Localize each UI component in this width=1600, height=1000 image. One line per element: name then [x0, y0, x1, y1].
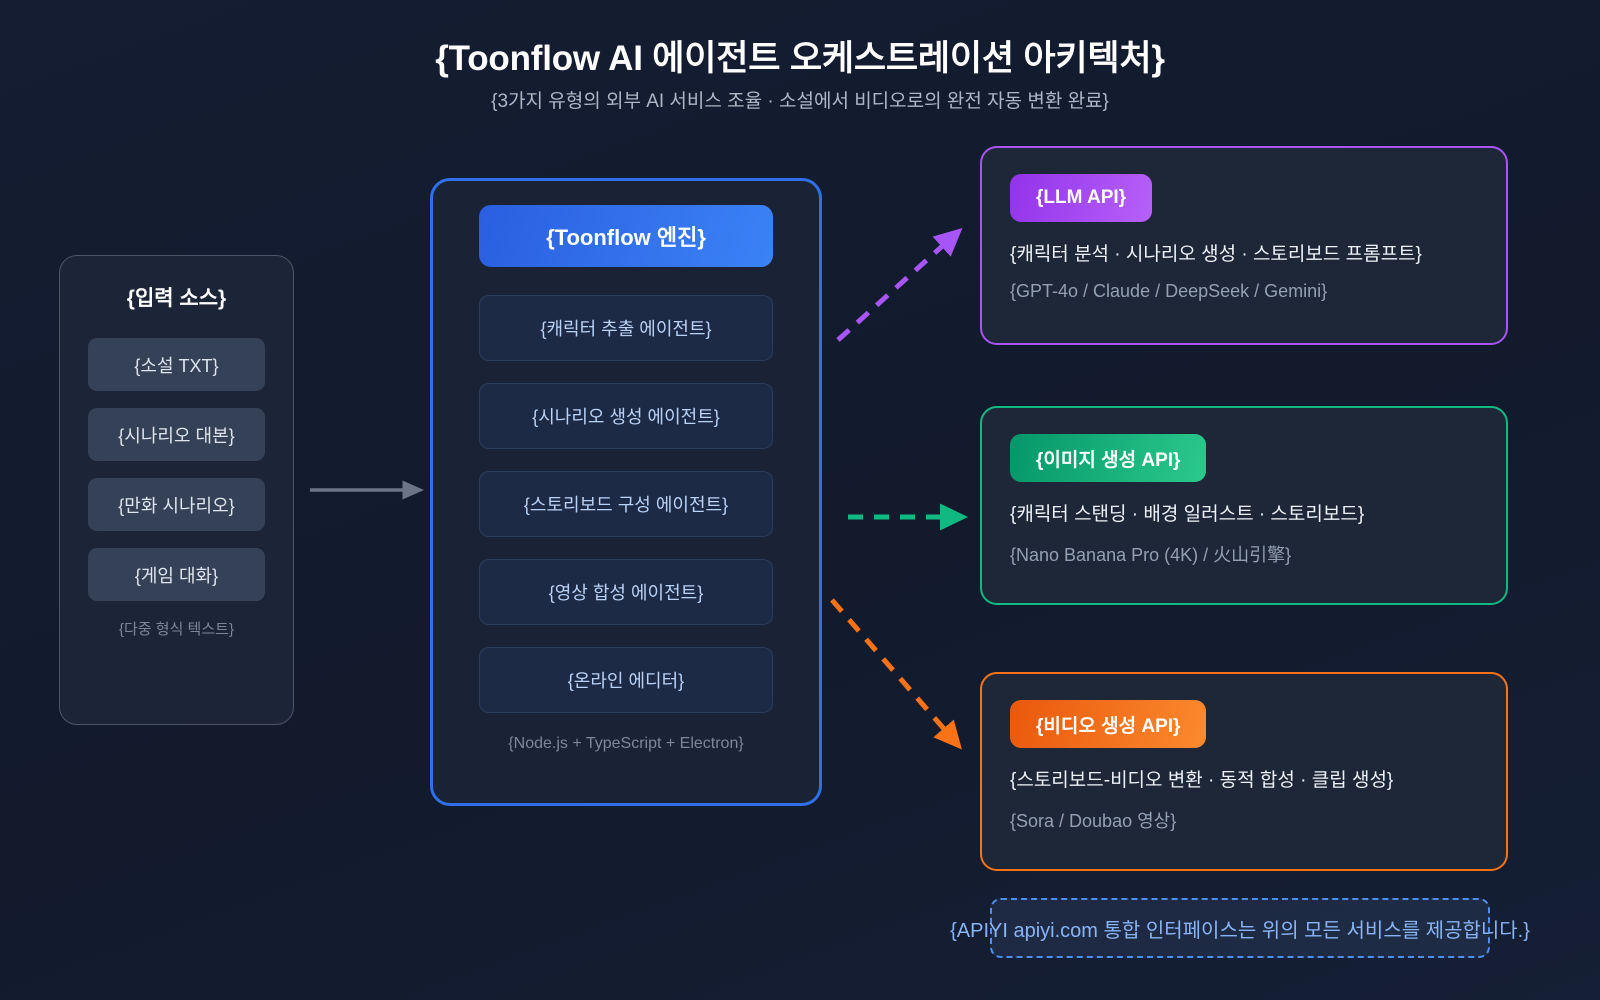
- input-panel-footnote: {다중 형식 텍스트}: [60, 618, 293, 639]
- llm-api-models: {GPT-4o / Claude / DeepSeek / Gemini}: [1010, 281, 1478, 302]
- arrow-engine-to-video: [832, 600, 958, 745]
- page-title: {Toonflow AI 에이전트 오케스트레이션 아키텍처}: [0, 30, 1600, 81]
- apiyi-footer-note: {APIYI apiyi.com 통합 인터페이스는 위의 모든 서비스를 제공…: [990, 898, 1490, 958]
- image-api-badge: {이미지 생성 API}: [1010, 434, 1206, 482]
- apiyi-footer-note-text: {APIYI apiyi.com 통합 인터페이스는 위의 모든 서비스를 제공…: [950, 914, 1530, 943]
- agent-video-synthesis[interactable]: {영상 합성 에이전트}: [479, 559, 773, 625]
- input-sources-panel: {입력 소스} {소설 TXT} {시나리오 대본} {만화 시나리오} {게임…: [59, 255, 294, 725]
- agent-online-editor[interactable]: {온라인 에디터}: [479, 647, 773, 713]
- image-api-description: {캐릭터 스탠딩 · 배경 일러스트 · 스토리보드}: [1010, 499, 1478, 526]
- engine-tech-stack-footnote: {Node.js + TypeScript + Electron}: [479, 735, 773, 753]
- image-api-models: {Nano Banana Pro (4K) / 火山引擎}: [1010, 541, 1478, 567]
- toonflow-engine-panel: {Toonflow 엔진} {캐릭터 추출 에이전트} {시나리오 생성 에이전…: [430, 178, 822, 806]
- service-card-video-api: {비디오 생성 API} {스토리보드-비디오 변환 · 동적 합성 · 클립 …: [980, 672, 1508, 871]
- service-card-image-api: {이미지 생성 API} {캐릭터 스탠딩 · 배경 일러스트 · 스토리보드}…: [980, 406, 1508, 605]
- arrow-engine-to-llm: [838, 232, 958, 340]
- agent-character-extraction[interactable]: {캐릭터 추출 에이전트}: [479, 295, 773, 361]
- agent-storyboard-composition[interactable]: {스토리보드 구성 에이전트}: [479, 471, 773, 537]
- input-item-game-dialogue[interactable]: {게임 대화}: [88, 548, 265, 601]
- service-card-llm-api: {LLM API} {캐릭터 분석 · 시나리오 생성 · 스토리보드 프롬프트…: [980, 146, 1508, 345]
- llm-api-description: {캐릭터 분석 · 시나리오 생성 · 스토리보드 프롬프트}: [1010, 239, 1478, 266]
- page-subtitle: {3가지 유형의 외부 AI 서비스 조율 · 소설에서 비디오로의 완전 자동…: [0, 86, 1600, 113]
- diagram-canvas: {Toonflow AI 에이전트 오케스트레이션 아키텍처} {3가지 유형의…: [0, 0, 1600, 1000]
- engine-header-badge: {Toonflow 엔진}: [479, 205, 773, 267]
- input-item-comic-scenario[interactable]: {만화 시나리오}: [88, 478, 265, 531]
- video-api-description: {스토리보드-비디오 변환 · 동적 합성 · 클립 생성}: [1010, 765, 1478, 792]
- input-item-novel-txt[interactable]: {소설 TXT}: [88, 338, 265, 391]
- agent-scenario-generation[interactable]: {시나리오 생성 에이전트}: [479, 383, 773, 449]
- input-item-scenario-script[interactable]: {시나리오 대본}: [88, 408, 265, 461]
- llm-api-badge: {LLM API}: [1010, 174, 1152, 222]
- video-api-models: {Sora / Doubao 영상}: [1010, 807, 1478, 833]
- input-panel-title: {입력 소스}: [60, 282, 293, 312]
- video-api-badge: {비디오 생성 API}: [1010, 700, 1206, 748]
